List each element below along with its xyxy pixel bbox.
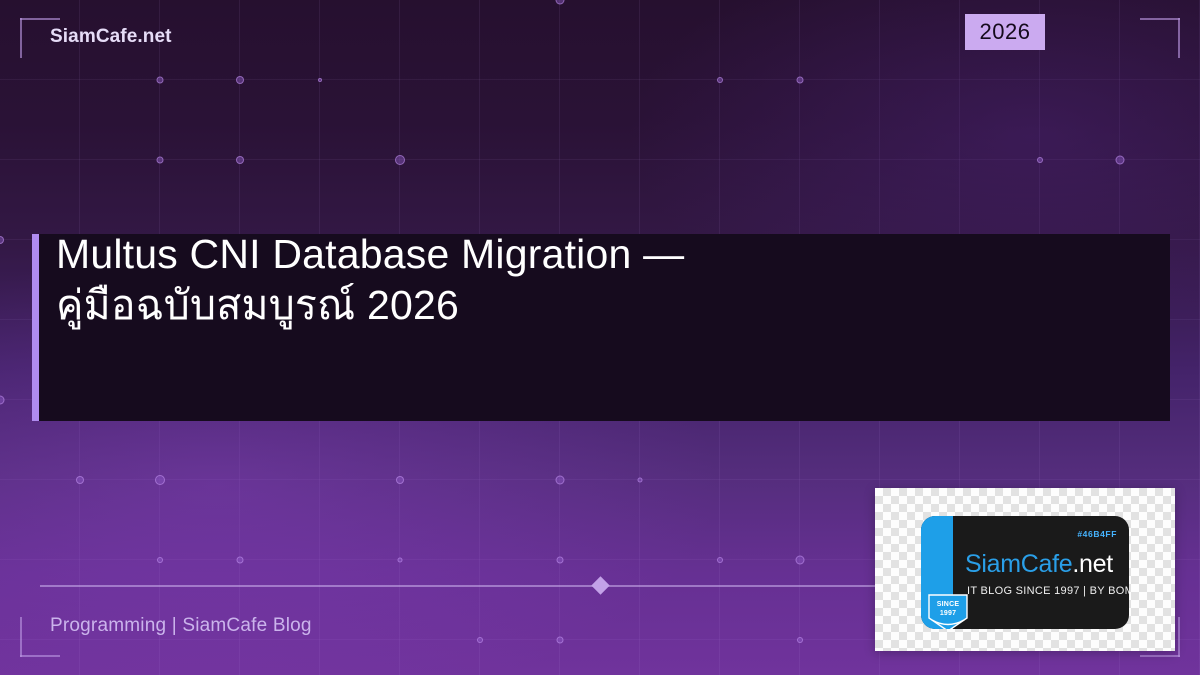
grid-node-dot <box>157 157 164 164</box>
grid-node-dot <box>318 78 322 82</box>
since-shield-line1: SINCE <box>927 601 969 610</box>
grid-node-dot <box>557 637 564 644</box>
logo-card: #46B4FF SiamCafe.net IT BLOG SINCE 1997 … <box>875 488 1175 651</box>
title-band: Multus CNI Database Migration — คู่มือฉบ… <box>32 234 1170 421</box>
grid-node-dot <box>236 156 244 164</box>
since-shield-label: SINCE 1997 <box>927 601 969 618</box>
logo-tagline: IT BLOG SINCE 1997 | BY BOM <box>967 585 1129 597</box>
title-accent-bar <box>32 234 39 421</box>
grid-node-dot <box>395 155 405 165</box>
grid-node-dot <box>717 557 723 563</box>
grid-node-dot <box>0 396 5 405</box>
grid-node-dot <box>236 76 244 84</box>
grid-node-dot <box>157 77 164 84</box>
grid-node-dot <box>157 557 163 563</box>
grid-node-dot <box>477 637 483 643</box>
footer-divider <box>40 585 880 587</box>
logo-wordmark-white: .net <box>1072 550 1113 578</box>
breadcrumb: Programming | SiamCafe Blog <box>50 615 312 637</box>
logo-wordmark-blue: SiamCafe <box>965 550 1072 578</box>
grid-node-dot <box>76 476 84 484</box>
year-badge: 2026 <box>965 14 1045 50</box>
hero-banner: SiamCafe.net 2026 Multus CNI Database Mi… <box>0 0 1200 675</box>
grid-node-dot <box>717 77 723 83</box>
grid-node-dot <box>556 0 565 5</box>
grid-node-dot <box>638 478 643 483</box>
grid-node-dot <box>557 557 564 564</box>
grid-node-dot <box>396 476 404 484</box>
grid-node-dot <box>797 77 804 84</box>
grid-node-dot <box>556 476 565 485</box>
corner-bracket-top-right <box>1140 18 1180 58</box>
since-shield-line2: 1997 <box>927 610 969 619</box>
grid-node-dot <box>155 475 165 485</box>
logo-hex-label: #46B4FF <box>1077 529 1117 539</box>
grid-node-dot <box>398 558 403 563</box>
site-name: SiamCafe.net <box>50 26 172 48</box>
grid-node-dot <box>1037 157 1043 163</box>
grid-node-dot <box>237 557 244 564</box>
logo-badge: #46B4FF SiamCafe.net IT BLOG SINCE 1997 … <box>921 516 1129 629</box>
logo-wordmark: SiamCafe.net <box>965 550 1113 579</box>
grid-node-dot <box>1116 156 1125 165</box>
grid-node-dot <box>796 556 805 565</box>
grid-node-dot <box>0 236 4 244</box>
page-title: Multus CNI Database Migration — คู่มือฉบ… <box>56 229 1146 331</box>
grid-node-dot <box>797 637 803 643</box>
